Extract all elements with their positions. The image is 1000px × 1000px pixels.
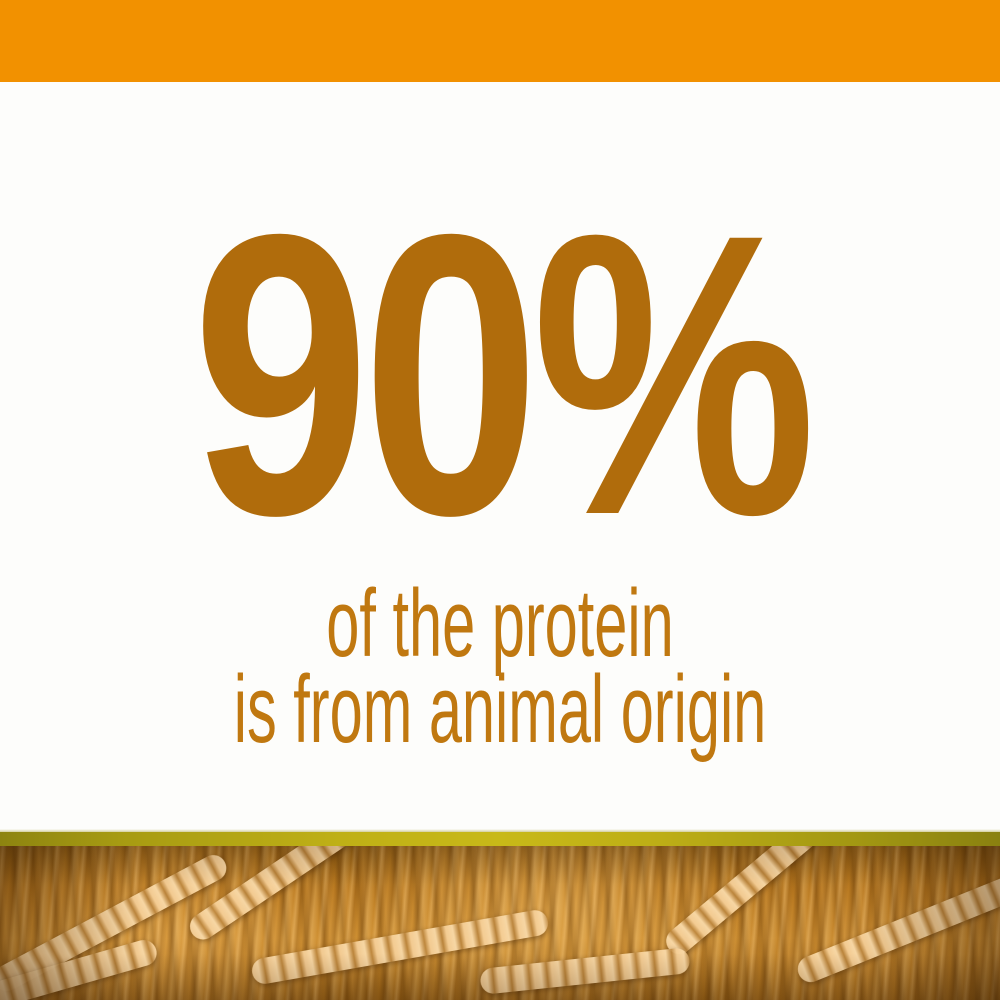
infographic-poster: 90% of the protein is from animal origin <box>0 0 1000 1000</box>
wheat-field-photo <box>0 846 1000 1000</box>
content-stage: 90% of the protein is from animal origin <box>0 82 1000 832</box>
statistic-block: 90% <box>0 225 1000 525</box>
caption-block: of the protein is from animal origin <box>0 582 1000 754</box>
statistic-value: 90% <box>192 225 808 525</box>
top-orange-band <box>0 0 1000 82</box>
wheat-photo-vignette <box>0 846 1000 1000</box>
caption-line-2: is from animal origin <box>190 666 810 754</box>
olive-divider-band <box>0 832 1000 846</box>
caption-line-1: of the protein <box>190 582 810 666</box>
